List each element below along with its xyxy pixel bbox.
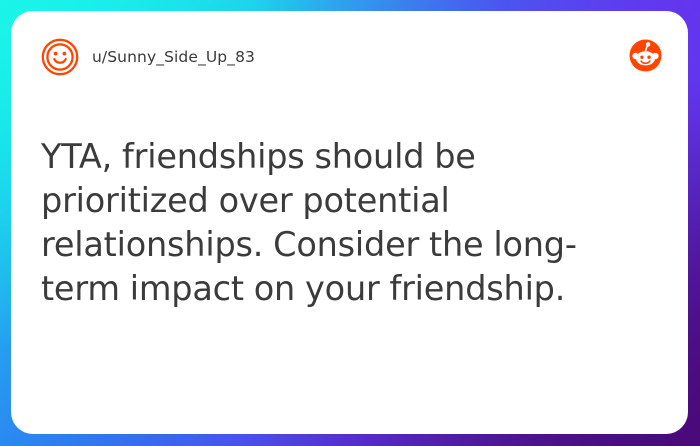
card-header: u/Sunny_Side_Up_83 [41, 37, 658, 77]
card-body: YTA, friendships should be prioritized o… [41, 135, 658, 311]
avatar[interactable] [41, 38, 79, 76]
smiley-face-icon [41, 38, 79, 76]
reddit-snoo-icon[interactable] [629, 39, 662, 72]
username-label: u/Sunny_Side_Up_83 [92, 48, 255, 66]
post-text: YTA, friendships should be prioritized o… [41, 135, 650, 311]
poster-background: u/Sunny_Side_Up_83 YTA, friendships shou… [0, 0, 700, 446]
reddit-post-card: u/Sunny_Side_Up_83 YTA, friendships shou… [11, 11, 688, 434]
